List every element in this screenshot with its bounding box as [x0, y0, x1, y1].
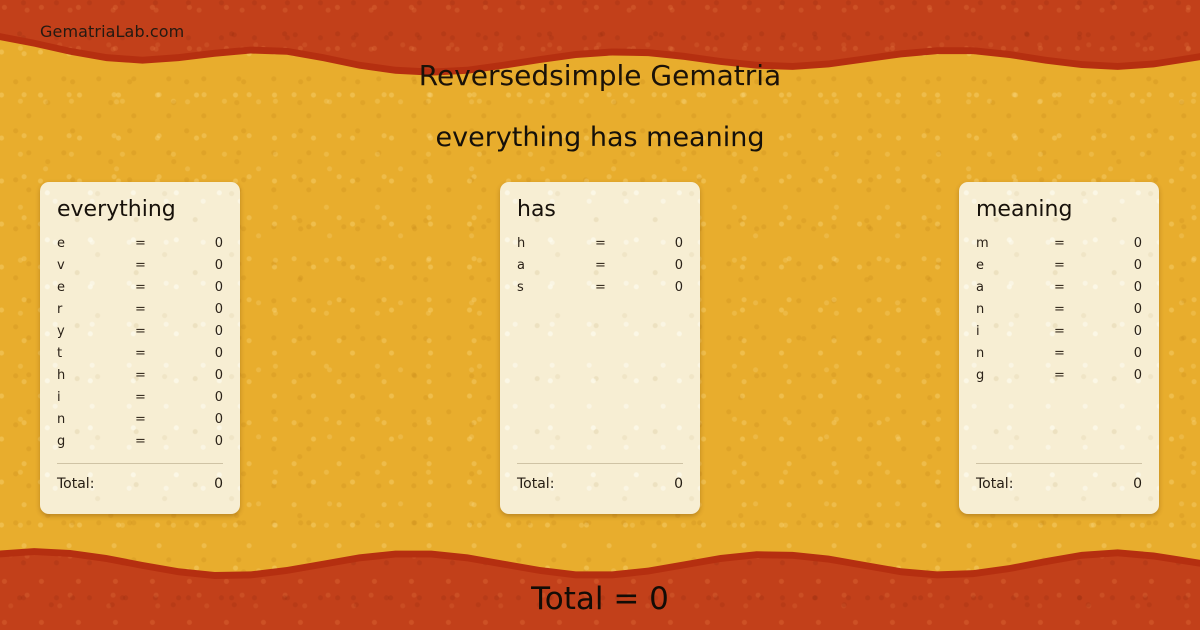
letter-value-list: e = 0 v = 0 e = 0 r = 0 y = 0 [57, 236, 223, 456]
letter: n [976, 302, 1054, 317]
letter-value: 0 [185, 434, 223, 449]
letter-value: 0 [185, 236, 223, 251]
letter-row: e = 0 [57, 280, 223, 302]
letter: y [57, 324, 135, 339]
letter-value: 0 [1104, 236, 1142, 251]
letter-row: v = 0 [57, 258, 223, 280]
equals-sign: = [135, 368, 185, 383]
letter-value: 0 [645, 280, 683, 295]
page-title: Reversedsimple Gematria [0, 59, 1200, 92]
letter-row: g = 0 [57, 434, 223, 456]
card-total-line: Total: 0 [976, 476, 1142, 492]
page-background: GematriaLab.com Reversedsimple Gematria … [0, 0, 1200, 630]
letter-value: 0 [185, 280, 223, 295]
letter-row: e = 0 [976, 258, 1142, 280]
total-value: 0 [674, 476, 683, 492]
letter-row: n = 0 [976, 346, 1142, 368]
equals-sign: = [1054, 280, 1104, 295]
equals-sign: = [595, 258, 645, 273]
letter-value: 0 [1104, 302, 1142, 317]
site-watermark: GematriaLab.com [40, 22, 184, 41]
equals-sign: = [595, 280, 645, 295]
total-value: 0 [1133, 476, 1142, 492]
letter-value: 0 [185, 302, 223, 317]
equals-sign: = [135, 236, 185, 251]
letter-row: i = 0 [57, 390, 223, 412]
letter-value: 0 [1104, 368, 1142, 383]
letter-value: 0 [185, 412, 223, 427]
letter-row: g = 0 [976, 368, 1142, 390]
letter-value: 0 [645, 236, 683, 251]
word-card-everything: everything e = 0 v = 0 e = 0 r = 0 [40, 182, 240, 514]
equals-sign: = [135, 324, 185, 339]
card-word-title: meaning [976, 196, 1142, 224]
total-value: 0 [214, 476, 223, 492]
letter-row: n = 0 [976, 302, 1142, 324]
letter-row: n = 0 [57, 412, 223, 434]
letter: r [57, 302, 135, 317]
card-footer: Total: 0 [976, 463, 1142, 492]
letter: h [517, 236, 595, 251]
letter-row: m = 0 [976, 236, 1142, 258]
total-label: Total: [57, 476, 94, 492]
letter-row: a = 0 [517, 258, 683, 280]
letter-row: y = 0 [57, 324, 223, 346]
letter-value: 0 [1104, 258, 1142, 273]
total-label: Total: [976, 476, 1013, 492]
equals-sign: = [135, 390, 185, 405]
word-card-has: has h = 0 a = 0 s = 0 Total: 0 [500, 182, 700, 514]
letter-value: 0 [185, 390, 223, 405]
equals-sign: = [1054, 258, 1104, 273]
letter: i [57, 390, 135, 405]
card-word-title: has [517, 196, 683, 224]
letter-value: 0 [185, 324, 223, 339]
equals-sign: = [135, 434, 185, 449]
total-label: Total: [517, 476, 554, 492]
footer-divider [57, 463, 223, 464]
letter-row: i = 0 [976, 324, 1142, 346]
letter: e [57, 280, 135, 295]
word-card-meaning: meaning m = 0 e = 0 a = 0 n = 0 [959, 182, 1159, 514]
card-footer: Total: 0 [57, 463, 223, 492]
equals-sign: = [1054, 368, 1104, 383]
letter: t [57, 346, 135, 361]
letter-value-list: m = 0 e = 0 a = 0 n = 0 i = 0 [976, 236, 1142, 390]
letter-row: s = 0 [517, 280, 683, 302]
letter-value: 0 [645, 258, 683, 273]
card-word-title: everything [57, 196, 223, 224]
letter: h [57, 368, 135, 383]
footer-divider [976, 463, 1142, 464]
letter-row: a = 0 [976, 280, 1142, 302]
letter: a [976, 280, 1054, 295]
equals-sign: = [135, 412, 185, 427]
grand-total: Total = 0 [0, 581, 1200, 617]
letter: a [517, 258, 595, 273]
equals-sign: = [135, 302, 185, 317]
letter: s [517, 280, 595, 295]
equals-sign: = [1054, 236, 1104, 251]
letter: e [57, 236, 135, 251]
letter: v [57, 258, 135, 273]
letter: g [976, 368, 1054, 383]
phrase-heading: everything has meaning [0, 122, 1200, 153]
card-footer: Total: 0 [517, 463, 683, 492]
equals-sign: = [135, 346, 185, 361]
letter: g [57, 434, 135, 449]
equals-sign: = [135, 280, 185, 295]
card-total-line: Total: 0 [517, 476, 683, 492]
letter-row: e = 0 [57, 236, 223, 258]
equals-sign: = [1054, 346, 1104, 361]
equals-sign: = [595, 236, 645, 251]
letter-value: 0 [185, 346, 223, 361]
letter-value: 0 [1104, 280, 1142, 295]
letter-row: r = 0 [57, 302, 223, 324]
letter-value: 0 [1104, 324, 1142, 339]
letter: n [57, 412, 135, 427]
letter-value-list: h = 0 a = 0 s = 0 [517, 236, 683, 302]
letter: e [976, 258, 1054, 273]
letter-value: 0 [185, 368, 223, 383]
letter: i [976, 324, 1054, 339]
letter-row: t = 0 [57, 346, 223, 368]
letter-row: h = 0 [517, 236, 683, 258]
letter-value: 0 [185, 258, 223, 273]
letter-value: 0 [1104, 346, 1142, 361]
letter: n [976, 346, 1054, 361]
footer-divider [517, 463, 683, 464]
equals-sign: = [1054, 302, 1104, 317]
letter-row: h = 0 [57, 368, 223, 390]
card-total-line: Total: 0 [57, 476, 223, 492]
letter: m [976, 236, 1054, 251]
equals-sign: = [135, 258, 185, 273]
equals-sign: = [1054, 324, 1104, 339]
